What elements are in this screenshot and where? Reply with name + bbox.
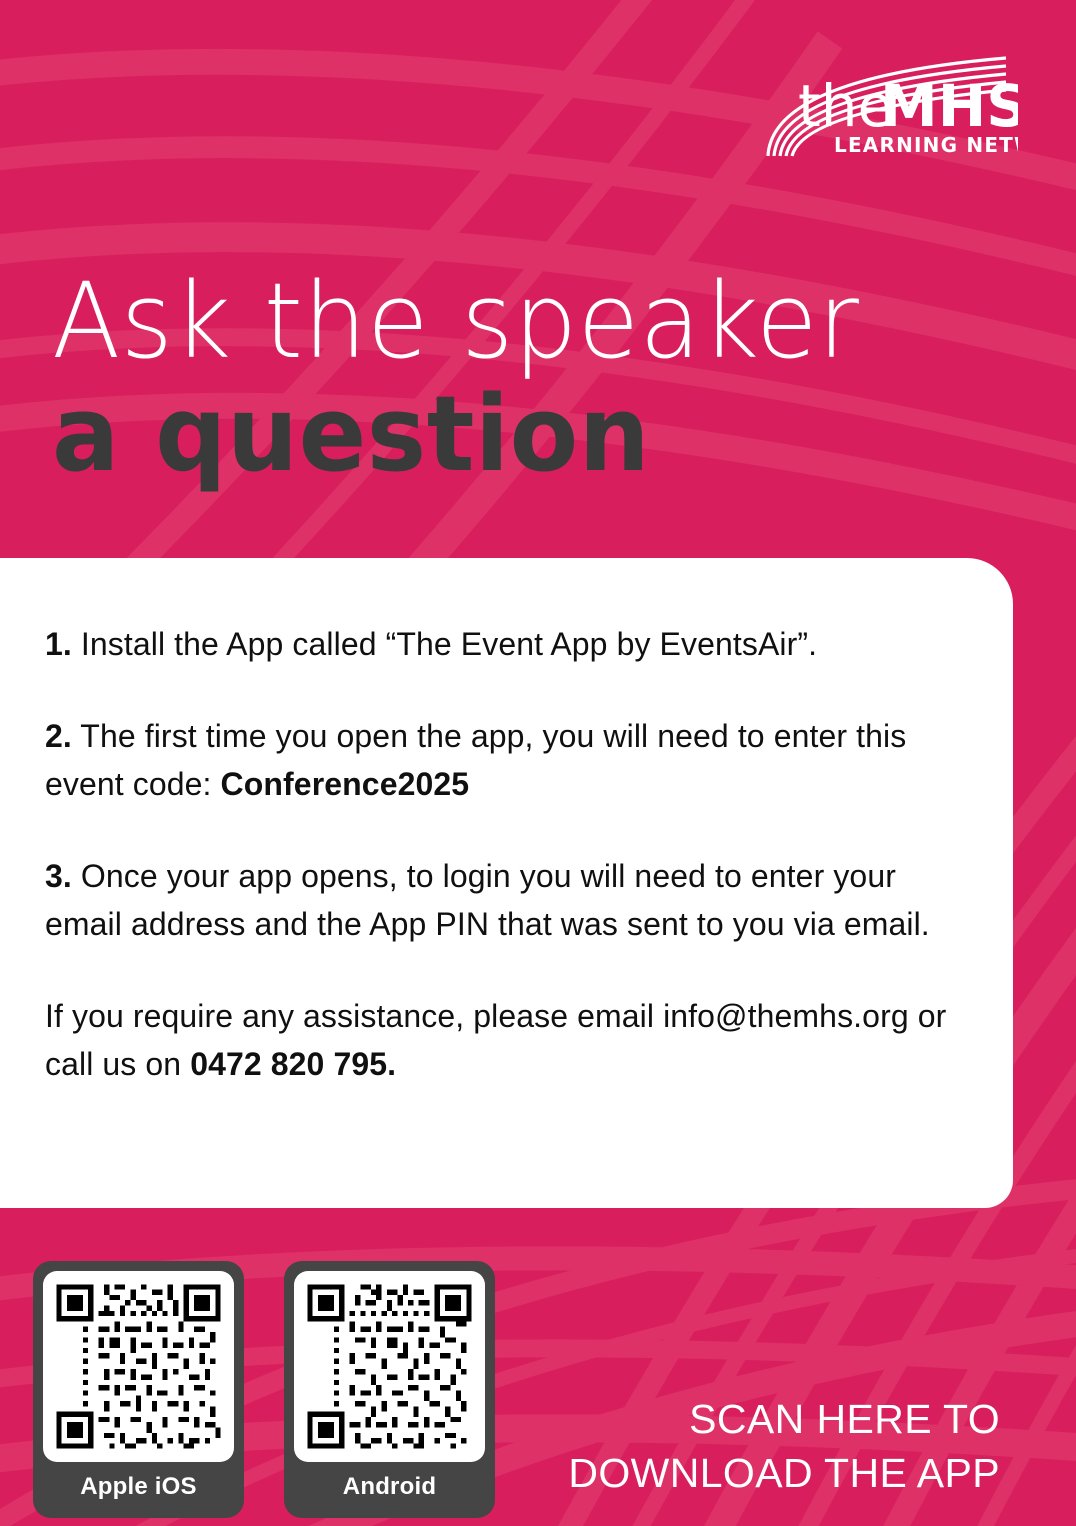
- headline-line-2: a question: [52, 380, 974, 489]
- themhs-logo: the MHS LEARNING NETWORK: [762, 52, 1018, 160]
- assistance-paragraph: If you require any assistance, please em…: [45, 992, 965, 1088]
- support-phone: 0472 820 795.: [190, 1046, 396, 1082]
- step-2-text: The first time you open the app, you wil…: [45, 718, 906, 802]
- instructions-card: 1. Install the App called “The Event App…: [0, 558, 1013, 1208]
- scan-cta: SCAN HERE TO DOWNLOAD THE APP: [440, 1392, 1000, 1500]
- logo-wordmark-bold: MHS: [880, 72, 1018, 140]
- step-1-number: 1.: [45, 626, 72, 662]
- qr-apple-ios-label: Apple iOS: [80, 1462, 196, 1514]
- qr-apple-ios[interactable]: Apple iOS: [33, 1261, 244, 1518]
- qr-android-label: Android: [343, 1462, 436, 1514]
- instruction-step-1: 1. Install the App called “The Event App…: [45, 620, 965, 668]
- assistance-lead: If you require any assistance, please em…: [45, 998, 663, 1034]
- step-1-text: Install the App called “The Event App by…: [72, 626, 817, 662]
- instruction-step-3: 3. Once your app opens, to login you wil…: [45, 852, 965, 948]
- step-3-number: 3.: [45, 858, 72, 894]
- step-3-text: Once your app opens, to login you will n…: [45, 858, 930, 942]
- scan-cta-line-2: DOWNLOAD THE APP: [440, 1446, 1000, 1500]
- qr-apple-ios-image: [43, 1271, 234, 1462]
- qr-code-group: Apple iOS: [33, 1261, 495, 1518]
- headline-line-1: Ask the speaker: [52, 268, 974, 374]
- page-title: Ask the speaker a question: [52, 268, 1012, 489]
- scan-cta-line-1: SCAN HERE TO: [440, 1392, 1000, 1446]
- logo-tagline: LEARNING NETWORK: [834, 133, 1018, 157]
- support-email: info@themhs.org: [663, 998, 909, 1034]
- event-code-value: Conference2025: [221, 766, 470, 802]
- instruction-step-2: 2. The first time you open the app, you …: [45, 712, 965, 808]
- poster-root: the MHS LEARNING NETWORK Ask the speaker…: [0, 0, 1076, 1526]
- logo-wordmark-light: the: [798, 72, 893, 140]
- step-2-number: 2.: [45, 718, 72, 754]
